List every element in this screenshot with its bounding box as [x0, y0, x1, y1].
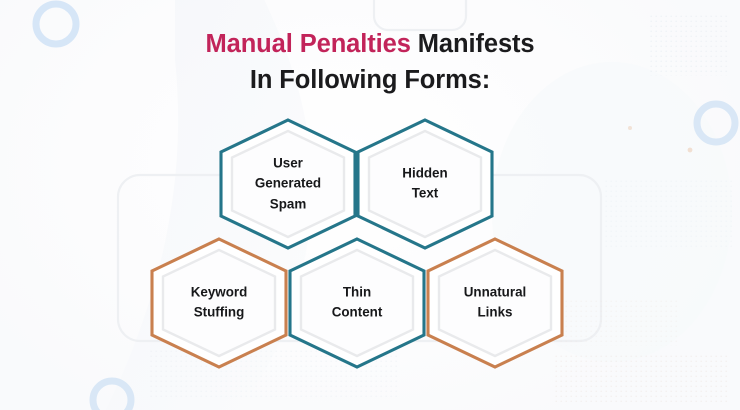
- title-line-1: Manual Penalties Manifests: [0, 26, 740, 62]
- infographic-canvas: Manual Penalties Manifests In Following …: [0, 0, 740, 410]
- hexagon-thin-content[interactable]: [290, 239, 424, 367]
- title-rest-text: Manifests: [411, 30, 535, 58]
- hexagon-user-generated-spam[interactable]: [221, 120, 355, 248]
- page-title: Manual Penalties Manifests In Following …: [0, 26, 740, 98]
- hexagon-unnatural-links[interactable]: [428, 239, 562, 367]
- hexagon-hidden-text[interactable]: [358, 120, 492, 248]
- hexagon-keyword-stuffing[interactable]: [152, 239, 286, 367]
- title-accent-text: Manual Penalties: [205, 30, 410, 58]
- title-line-2: In Following Forms:: [0, 62, 740, 98]
